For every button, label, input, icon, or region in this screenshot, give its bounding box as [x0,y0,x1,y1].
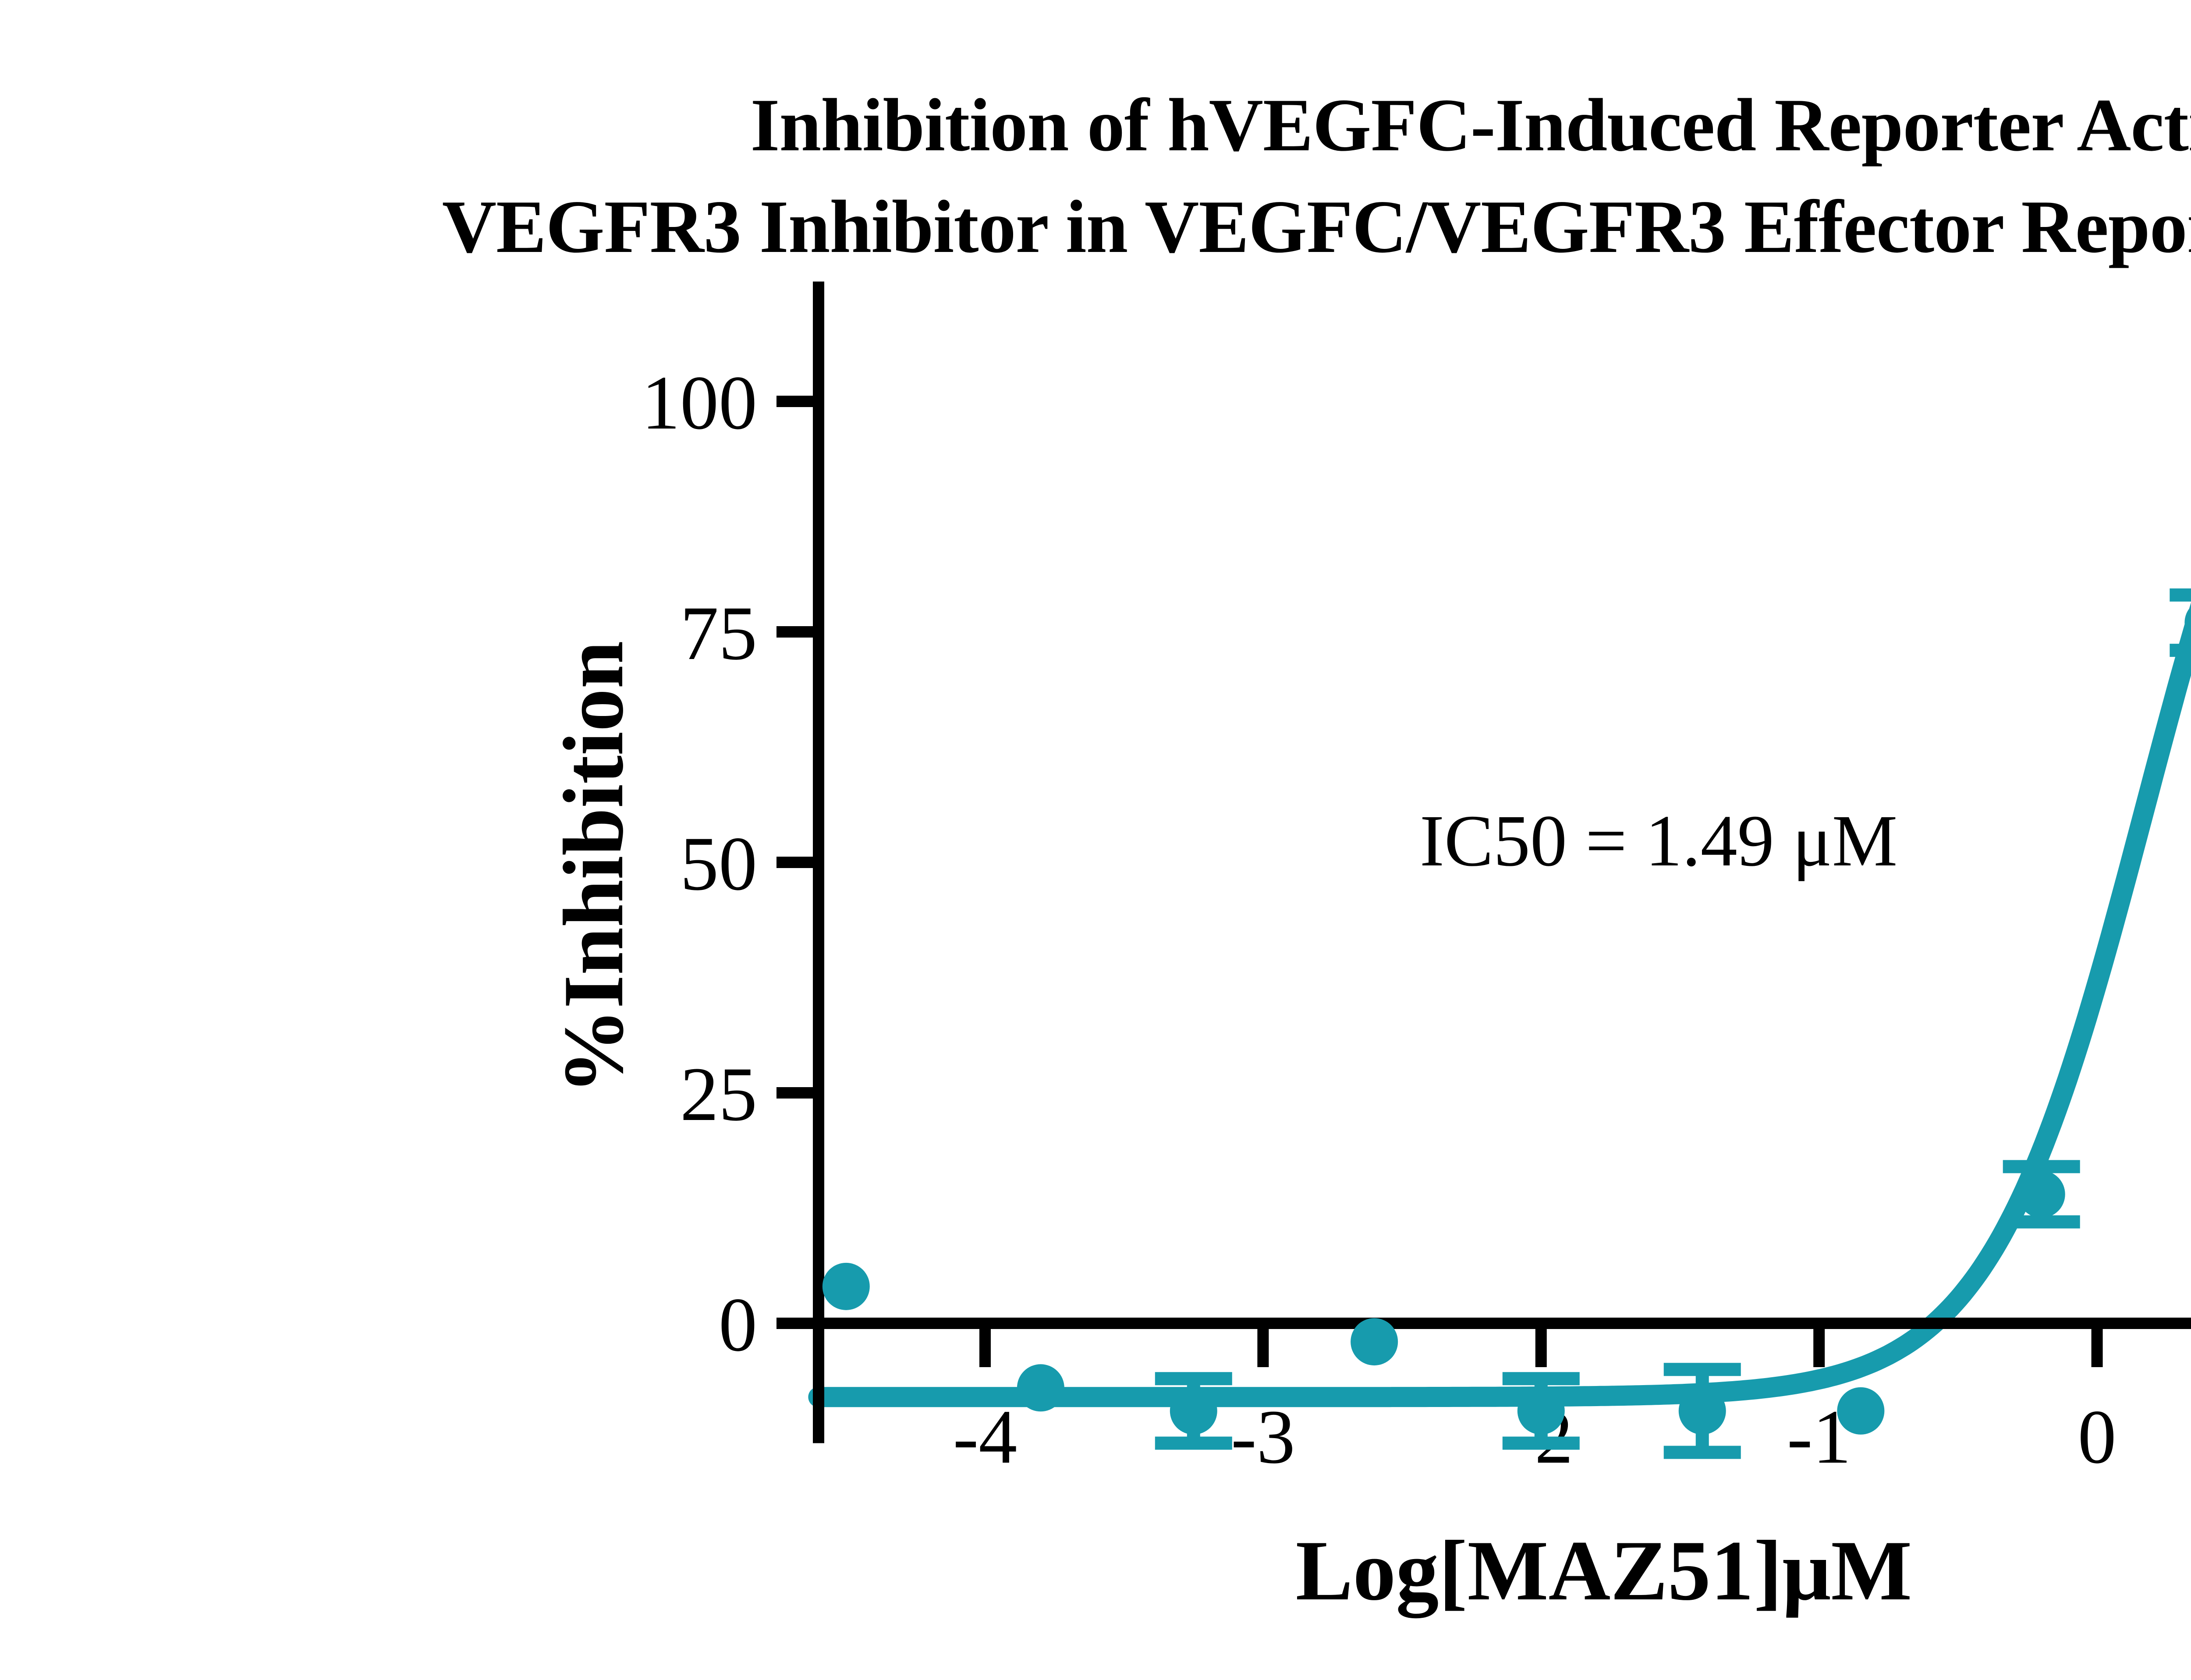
y-axis-tick-label: 0 [719,1282,757,1368]
data-point-marker [1837,1387,1884,1435]
data-point-marker [1351,1318,1398,1365]
data-point-marker [1170,1387,1217,1435]
data-point-marker [2018,1170,2065,1218]
x-axis-tick-label: -3 [1231,1394,1295,1480]
chart-figure: Inhibition of hVEGFC-Induced Reporter Ac… [0,0,2191,1680]
y-axis-tick-label: 100 [642,360,757,446]
plot-area: 0255075100-4-3-2-101 %Inhibition Log[MAZ… [0,0,2191,1680]
data-point-marker [823,1263,870,1310]
y-axis-title: %Inhibition [546,641,641,1095]
y-axis-tick-label: 50 [680,821,757,907]
y-axis-tick-label: 75 [680,591,757,676]
ic50-annotation: IC50 = 1.49 μM [1420,800,1897,882]
y-axis-tick-label: 25 [680,1052,757,1137]
data-point-marker [1517,1387,1565,1435]
data-point-marker [1017,1364,1064,1411]
data-point-marker [1679,1387,1726,1435]
x-axis-tick-label: -4 [953,1394,1018,1480]
x-axis-title: Log[MAZ51]μM [1296,1523,1912,1618]
x-axis-tick-label: 0 [2078,1394,2117,1480]
